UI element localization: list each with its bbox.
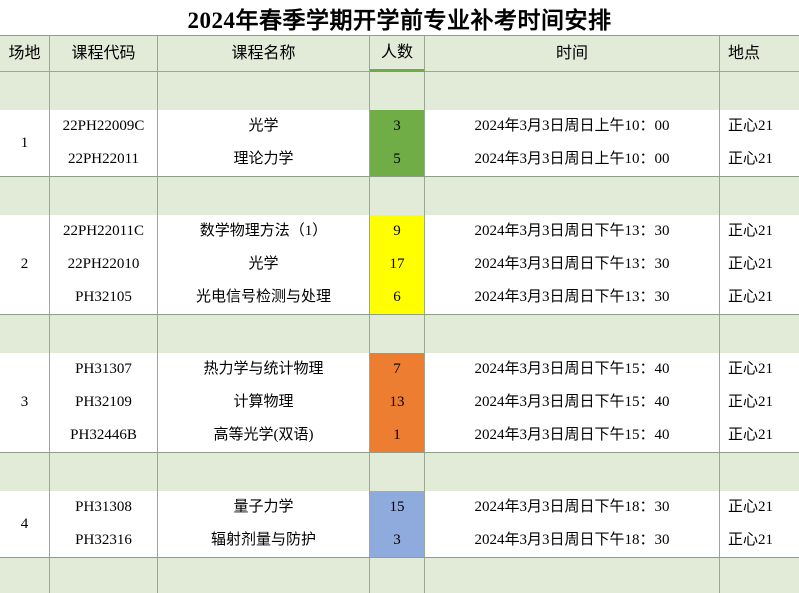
cell-name: 光电信号检测与处理 [158,281,370,314]
cell-name: 光学 [158,248,370,281]
group-separator-row [0,453,799,491]
column-header-count: 人数 [370,36,425,72]
separator-cell-time [425,72,720,110]
cell-code: 22PH22009C [50,110,158,143]
separator-cell-code [50,558,158,593]
cell-code: PH32105 [50,281,158,314]
separator-cell-code [50,177,158,215]
document-title-row: 2024年春季学期开学前专业补考时间安排 [0,0,799,36]
column-header-time: 时间 [425,36,720,71]
cell-count-highlighted: 7 [370,353,425,386]
cell-code: 22PH22011C [50,215,158,248]
cell-time: 2024年3月3日周日下午18：30 [425,524,720,557]
separator-cell-name [158,72,370,110]
cell-time: 2024年3月3日周日下午18：30 [425,491,720,524]
separator-cell-code [50,315,158,353]
table-row: 22PH22011C数学物理方法（1）92024年3月3日周日下午13：30正心… [50,215,799,248]
cell-code: PH32446B [50,419,158,452]
cell-place: 正心21 [720,143,799,176]
separator-cell-count [370,315,425,353]
cell-count-highlighted: 15 [370,491,425,524]
table-row: 22PH22011理论力学52024年3月3日周日上午10：00正心21 [50,143,799,176]
cell-time: 2024年3月3日周日下午15：40 [425,386,720,419]
cell-code: PH31307 [50,353,158,386]
venue-group-1: 122PH22009C光学32024年3月3日周日上午10：00正心2122PH… [0,110,799,177]
table-header-row: 场地课程代码课程名称人数时间地点 [0,36,799,72]
cell-code: PH31308 [50,491,158,524]
cell-code: 22PH22010 [50,248,158,281]
separator-cell-place [720,72,799,110]
table-row: PH32109计算物理132024年3月3日周日下午15：40正心21 [50,386,799,419]
cell-name: 热力学与统计物理 [158,353,370,386]
table-row: PH32105光电信号检测与处理62024年3月3日周日下午13：30正心21 [50,281,799,314]
cell-time: 2024年3月3日周日下午13：30 [425,248,720,281]
separator-cell-place [720,177,799,215]
cell-name: 计算物理 [158,386,370,419]
cell-place: 正心21 [720,110,799,143]
separator-cell-venue [0,177,50,215]
separator-cell-code [50,72,158,110]
venue-cell: 2 [0,215,50,314]
separator-cell-venue [0,453,50,491]
separator-cell-time [425,315,720,353]
cell-time: 2024年3月3日周日下午15：40 [425,353,720,386]
cell-place: 正心21 [720,248,799,281]
venue-cell: 1 [0,110,50,176]
cell-place: 正心21 [720,491,799,524]
group-separator-row [0,558,799,593]
separator-cell-place [720,315,799,353]
separator-cell-name [158,558,370,593]
separator-cell-name [158,315,370,353]
separator-cell-name [158,177,370,215]
cell-count-highlighted: 13 [370,386,425,419]
separator-cell-venue [0,558,50,593]
group-separator-row [0,315,799,353]
group-separator-row [0,72,799,110]
column-header-place: 地点 [720,36,799,71]
separator-cell-time [425,177,720,215]
separator-cell-count [370,453,425,491]
cell-time: 2024年3月3日周日下午13：30 [425,215,720,248]
venue-group-3: 3PH31307热力学与统计物理72024年3月3日周日下午15：40正心21P… [0,353,799,453]
cell-name: 高等光学(双语) [158,419,370,452]
group-separator-row [0,177,799,215]
cell-place: 正心21 [720,353,799,386]
cell-name: 量子力学 [158,491,370,524]
cell-place: 正心21 [720,419,799,452]
cell-place: 正心21 [720,281,799,314]
separator-cell-place [720,453,799,491]
spreadsheet-sheet: 2024年春季学期开学前专业补考时间安排 场地课程代码课程名称人数时间地点122… [0,0,799,593]
cell-code: PH32316 [50,524,158,557]
page-title: 2024年春季学期开学前专业补考时间安排 [188,1,612,35]
table-row: PH31308量子力学152024年3月3日周日下午18：30正心21 [50,491,799,524]
cell-code: 22PH22011 [50,143,158,176]
cell-count-highlighted: 3 [370,524,425,557]
cell-place: 正心21 [720,386,799,419]
cell-time: 2024年3月3日周日上午10：00 [425,110,720,143]
separator-cell-count [370,558,425,593]
separator-cell-venue [0,315,50,353]
cell-name: 数学物理方法（1） [158,215,370,248]
separator-cell-venue [0,72,50,110]
schedule-table: 场地课程代码课程名称人数时间地点122PH22009C光学32024年3月3日周… [0,36,799,593]
cell-time: 2024年3月3日周日下午15：40 [425,419,720,452]
separator-cell-count [370,72,425,110]
column-header-venue: 场地 [0,36,50,71]
cell-name: 理论力学 [158,143,370,176]
cell-time: 2024年3月3日周日上午10：00 [425,143,720,176]
table-row: PH32446B高等光学(双语)12024年3月3日周日下午15：40正心21 [50,419,799,452]
cell-count-highlighted: 9 [370,215,425,248]
separator-cell-time [425,453,720,491]
separator-cell-code [50,453,158,491]
separator-cell-time [425,558,720,593]
cell-name: 辐射剂量与防护 [158,524,370,557]
venue-group-2: 222PH22011C数学物理方法（1）92024年3月3日周日下午13：30正… [0,215,799,315]
cell-count-highlighted: 17 [370,248,425,281]
separator-cell-count [370,177,425,215]
table-row: PH32316辐射剂量与防护32024年3月3日周日下午18：30正心21 [50,524,799,557]
cell-code: PH32109 [50,386,158,419]
venue-group-4: 4PH31308量子力学152024年3月3日周日下午18：30正心21PH32… [0,491,799,558]
cell-name: 光学 [158,110,370,143]
cell-count-highlighted: 3 [370,110,425,143]
cell-count-highlighted: 6 [370,281,425,314]
cell-count-highlighted: 5 [370,143,425,176]
venue-cell: 3 [0,353,50,452]
cell-count-highlighted: 1 [370,419,425,452]
cell-place: 正心21 [720,215,799,248]
separator-cell-place [720,558,799,593]
table-row: 22PH22009C光学32024年3月3日周日上午10：00正心21 [50,110,799,143]
cell-place: 正心21 [720,524,799,557]
column-header-name: 课程名称 [158,36,370,71]
column-header-code: 课程代码 [50,36,158,71]
venue-cell: 4 [0,491,50,557]
cell-time: 2024年3月3日周日下午13：30 [425,281,720,314]
table-row: PH31307热力学与统计物理72024年3月3日周日下午15：40正心21 [50,353,799,386]
table-row: 22PH22010光学172024年3月3日周日下午13：30正心21 [50,248,799,281]
separator-cell-name [158,453,370,491]
